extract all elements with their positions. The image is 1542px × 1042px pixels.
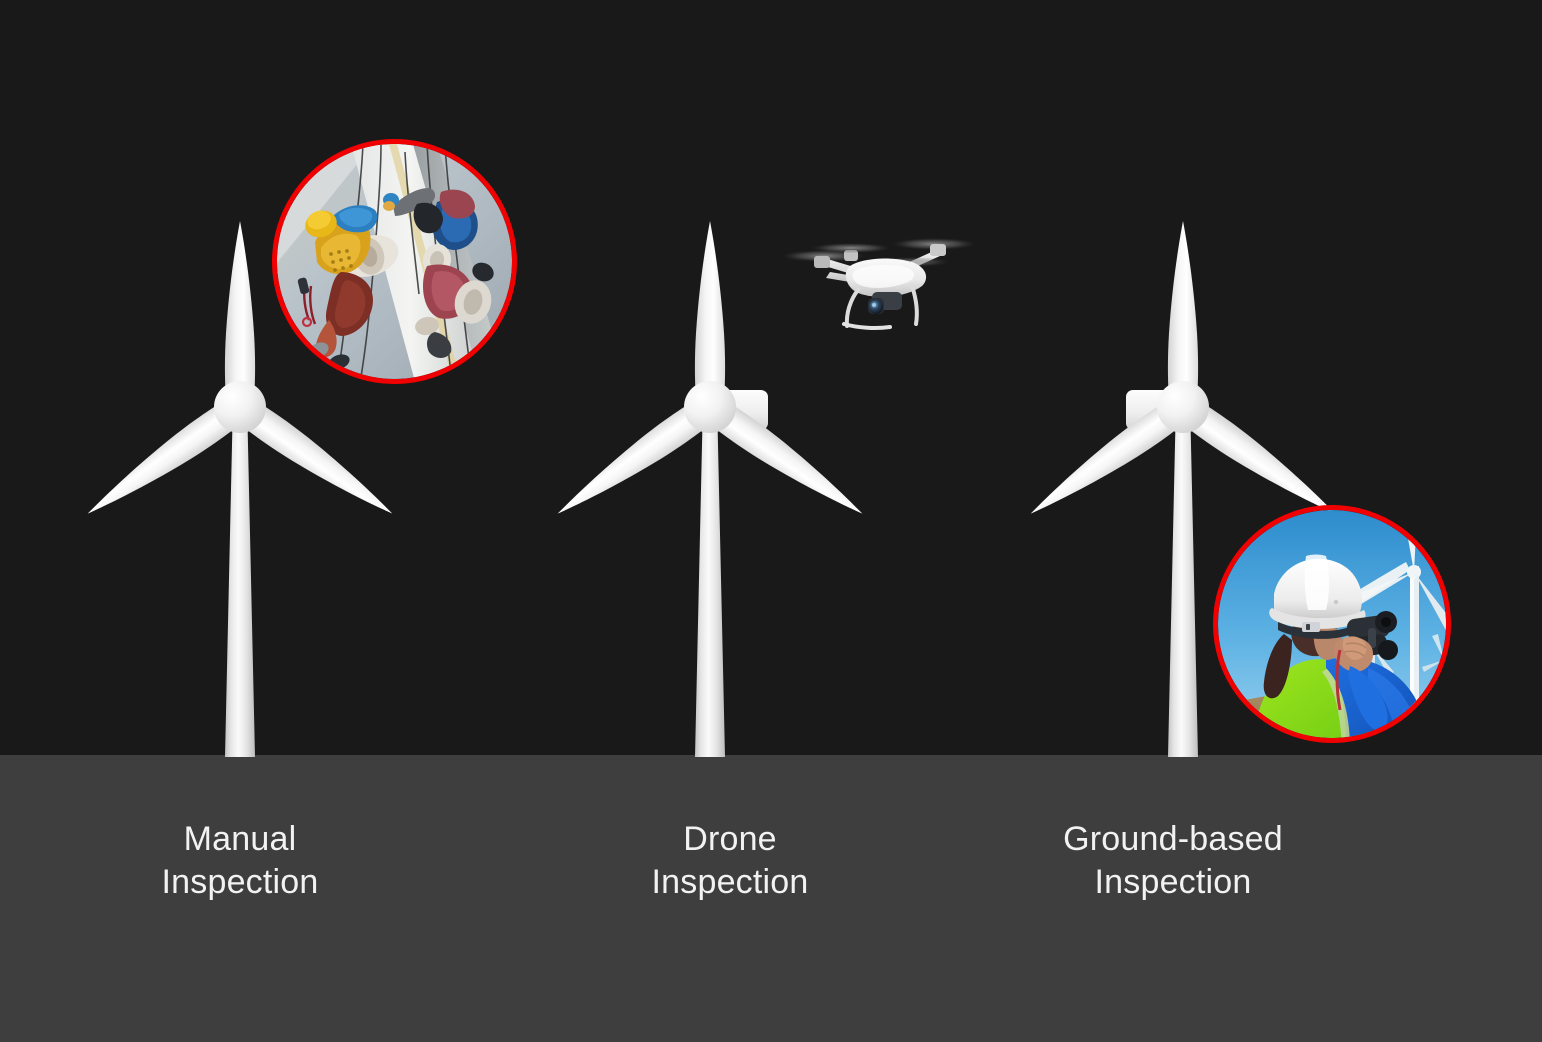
rope-access-technicians-photo bbox=[272, 139, 517, 384]
label-drone-inspection: Drone Inspection bbox=[550, 818, 910, 904]
rotor-blur-front-left bbox=[811, 243, 891, 253]
infographic-canvas: Manual Inspection Drone Inspection Groun… bbox=[0, 0, 1542, 1042]
landing-leg-left bbox=[847, 290, 858, 326]
binocular-inspector-photo bbox=[1213, 505, 1451, 743]
gimbal-camera bbox=[868, 292, 902, 314]
quadcopter-drone bbox=[780, 228, 975, 333]
label-ground-based-inspection: Ground-based Inspection bbox=[993, 818, 1353, 904]
label-manual-inspection: Manual Inspection bbox=[60, 818, 420, 904]
landing-leg-right bbox=[912, 286, 917, 324]
